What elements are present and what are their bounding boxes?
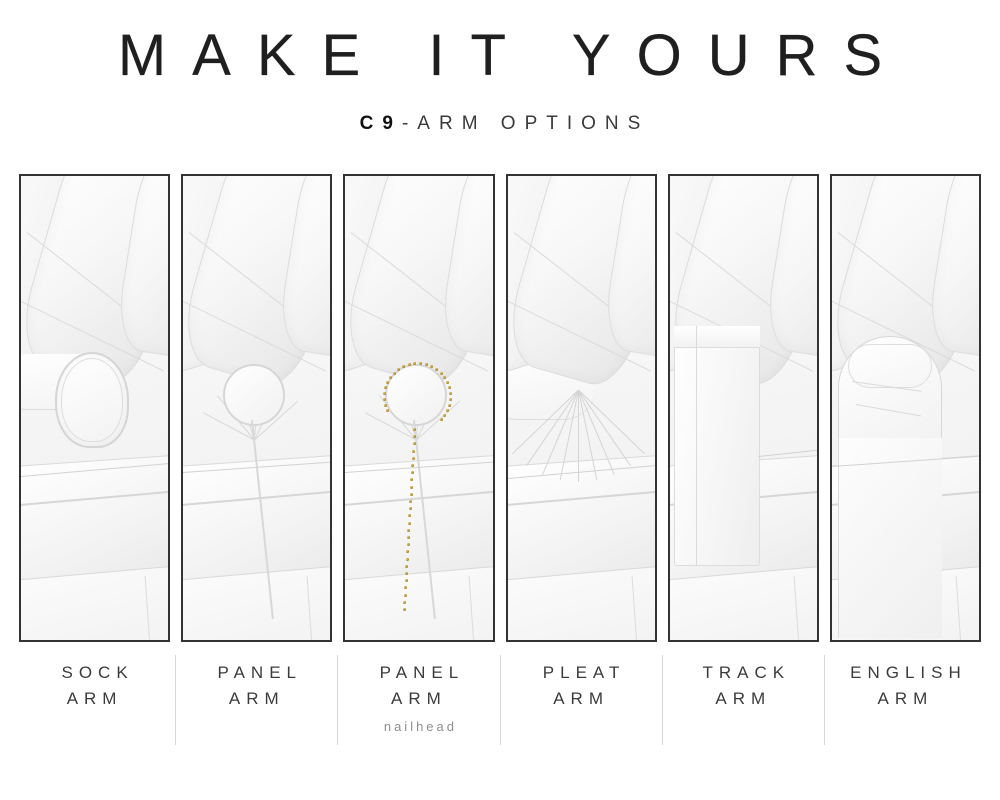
option-photo-panel-arm-nailhead xyxy=(345,176,492,640)
nailhead-stud xyxy=(448,404,451,407)
nailhead-stud xyxy=(410,493,413,496)
option-photo-track-arm xyxy=(670,176,817,640)
nailhead-stud xyxy=(412,457,415,460)
option-photo-sock-arm xyxy=(21,176,168,640)
track-arm-box xyxy=(674,326,760,566)
option-label-english-arm[interactable]: ENGLISH ARM xyxy=(830,650,981,750)
nailhead-stud xyxy=(443,414,446,417)
header: MAKE IT YOURS C9-ARM OPTIONS xyxy=(0,0,1000,135)
sock-arm-inner-seam xyxy=(61,358,123,442)
pleat-arm-seam xyxy=(578,390,645,455)
nailhead-stud xyxy=(446,381,449,384)
nailhead-stud xyxy=(408,363,411,366)
track-arm-edge xyxy=(696,326,697,566)
option-label-pleat-arm[interactable]: PLEAT ARM xyxy=(506,650,657,750)
nailhead-stud xyxy=(425,363,428,366)
option-label-text: TRACK ARM xyxy=(668,660,819,713)
nailhead-stud xyxy=(449,392,452,395)
english-arm-body xyxy=(838,438,942,638)
nailhead-stud xyxy=(406,558,409,561)
option-label-panel-arm[interactable]: PANEL ARM xyxy=(181,650,332,750)
nailhead-stud xyxy=(412,450,415,453)
panel-arm-scroll xyxy=(223,364,285,426)
seat-cushion xyxy=(508,454,655,587)
option-panel-panel-arm[interactable] xyxy=(181,174,332,642)
nailhead-stud xyxy=(440,418,443,421)
option-label-track-arm[interactable]: TRACK ARM xyxy=(668,650,819,750)
option-label-text: PANEL ARM xyxy=(181,660,332,713)
track-arm-top-face xyxy=(674,326,760,348)
nailhead-stud xyxy=(407,543,410,546)
page-subtitle: C9-ARM OPTIONS xyxy=(0,113,1000,135)
nailhead-stud xyxy=(405,572,408,575)
option-label-row: SOCK ARMPANEL ARMPANEL ARMnailheadPLEAT … xyxy=(19,650,981,750)
nailhead-stud xyxy=(449,398,452,401)
option-label-text: SOCK ARM xyxy=(19,660,170,713)
option-photo-english-arm xyxy=(832,176,979,640)
option-label-sock-arm[interactable]: SOCK ARM xyxy=(19,650,170,750)
option-label-text: ENGLISH ARM xyxy=(830,660,981,713)
option-photo-panel-arm xyxy=(183,176,330,640)
option-panel-english-arm[interactable] xyxy=(830,174,981,642)
arm-options-board: MAKE IT YOURS C9-ARM OPTIONS SOCK ARMPAN… xyxy=(0,0,1000,800)
pleat-arm-seam xyxy=(578,390,579,482)
option-panel-panel-arm-nailhead[interactable] xyxy=(343,174,494,642)
nailhead-stud xyxy=(448,386,451,389)
option-panel-track-arm[interactable] xyxy=(668,174,819,642)
nailhead-stud xyxy=(393,372,396,375)
subtitle-text: -ARM OPTIONS xyxy=(402,113,649,134)
option-image-strip xyxy=(19,174,981,642)
option-sublabel-text: nailhead xyxy=(343,719,494,734)
page-title: MAKE IT YOURS xyxy=(0,26,1000,87)
option-panel-sock-arm[interactable] xyxy=(19,174,170,642)
option-label-panel-arm-nailhead[interactable]: PANEL ARMnailhead xyxy=(343,650,494,750)
option-panel-pleat-arm[interactable] xyxy=(506,174,657,642)
option-label-text: PLEAT ARM xyxy=(506,660,657,713)
nailhead-stud xyxy=(409,507,412,510)
nailhead-stud xyxy=(410,486,413,489)
nailhead-stud xyxy=(403,608,406,611)
nailhead-stud xyxy=(440,372,443,375)
nailhead-stud xyxy=(404,594,407,597)
nailhead-stud xyxy=(405,579,408,582)
collection-code: C9 xyxy=(360,113,402,134)
nailhead-stud xyxy=(408,522,411,525)
option-photo-pleat-arm xyxy=(508,176,655,640)
option-label-text: PANEL ARM xyxy=(343,660,494,713)
